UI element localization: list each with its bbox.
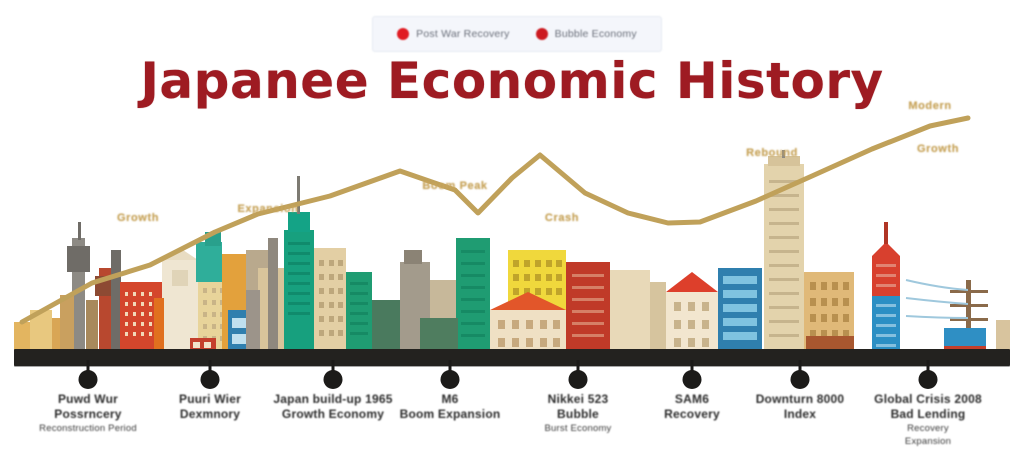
timeline-label-6: Downturn 8000Index [756, 392, 845, 422]
chart-annotation-2: Boom Peak [422, 180, 487, 192]
marker-pin-icon [324, 370, 343, 389]
trend-line [22, 118, 968, 322]
timeline-label-0-line-1: Possrncery [39, 407, 137, 422]
timeline-label-5-line-1: Recovery [664, 407, 720, 422]
chart-annotation-5: Modern [908, 100, 951, 112]
timeline-label-6-line-0: Downturn 8000 [756, 392, 845, 407]
timeline-label-3: M6Boom Expansion [400, 392, 501, 422]
chart-annotation-6: Growth [917, 143, 959, 155]
economic-trend-line-chart [0, 0, 1024, 474]
timeline-label-4-line-0: Nikkei 523 [544, 392, 611, 407]
timeline-label-0-line-2: Reconstruction Period [39, 422, 137, 435]
timeline-label-1-line-1: Dexmnory [179, 407, 241, 422]
chart-annotation-1: Expansion [237, 203, 298, 215]
timeline-label-2: Japan build-up 1965Growth Economy [273, 392, 392, 422]
timeline-label-1-line-0: Puuri Wier [179, 392, 241, 407]
chart-annotation-4: Rebound [746, 147, 798, 159]
timeline-label-0-line-0: Puwd Wur [39, 392, 137, 407]
marker-pin-icon [919, 370, 938, 389]
timeline-label-6-line-1: Index [756, 407, 845, 422]
timeline-label-1: Puuri WierDexmnory [179, 392, 241, 422]
infographic-canvas: Post War Recovery Bubble Economy Japanee… [0, 0, 1024, 474]
timeline-label-3-line-1: Boom Expansion [400, 407, 501, 422]
timeline-label-2-line-1: Growth Economy [273, 407, 392, 422]
timeline-label-4-line-1: Bubble [544, 407, 611, 422]
timeline-bar [14, 349, 1010, 366]
marker-pin-icon [201, 370, 220, 389]
marker-pin-icon [569, 370, 588, 389]
timeline-label-0: Puwd WurPossrnceryReconstruction Period [39, 392, 137, 435]
timeline-label-7: Global Crisis 2008Bad LendingRecoveryExp… [874, 392, 982, 448]
marker-pin-icon [441, 370, 460, 389]
timeline-label-7-line-0: Global Crisis 2008 [874, 392, 982, 407]
timeline-label-4-line-2: Burst Economy [544, 422, 611, 435]
chart-annotation-3: Crash [545, 212, 579, 224]
timeline-label-4: Nikkei 523BubbleBurst Economy [544, 392, 611, 435]
timeline-label-5: SAM6Recovery [664, 392, 720, 422]
timeline-label-7-line-1: Bad Lending [874, 407, 982, 422]
timeline-label-7-line-3: Expansion [874, 435, 982, 448]
timeline-label-2-line-0: Japan build-up 1965 [273, 392, 392, 407]
marker-pin-icon [683, 370, 702, 389]
timeline-label-3-line-0: M6 [400, 392, 501, 407]
timeline-label-7-line-2: Recovery [874, 422, 982, 435]
marker-pin-icon [791, 370, 810, 389]
timeline-label-5-line-0: SAM6 [664, 392, 720, 407]
chart-annotation-0: Growth [117, 212, 159, 224]
marker-pin-icon [79, 370, 98, 389]
